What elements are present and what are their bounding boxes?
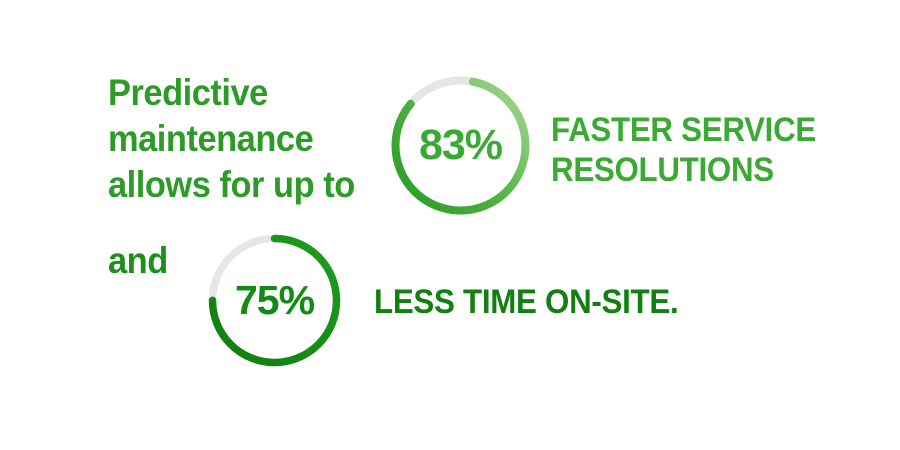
caption-faster-line-2: RESOLUTIONS <box>551 150 816 190</box>
intro-text-block: Predictive maintenance allows for up to <box>108 70 388 208</box>
caption-faster-line-1: FASTER SERVICE <box>551 110 816 150</box>
donut-gauge-faster-service: 83% <box>391 76 530 215</box>
intro-conjunction: and <box>108 238 168 284</box>
infographic-canvas: Predictive maintenance allows for up to … <box>0 0 900 450</box>
stat-caption-less-time-onsite: LESS TIME ON-SITE. <box>374 282 678 322</box>
intro-line-1: Predictive <box>108 70 368 116</box>
stat-caption-faster-service: FASTER SERVICE RESOLUTIONS <box>551 110 816 190</box>
donut-gauge-less-time-onsite: 75% <box>208 234 341 367</box>
caption-onsite-line-1: LESS TIME ON-SITE. <box>374 282 678 322</box>
intro-line-3: allows for up to <box>108 162 368 208</box>
intro-line-2: maintenance <box>108 116 368 162</box>
gauge-progress-faster <box>384 69 536 221</box>
